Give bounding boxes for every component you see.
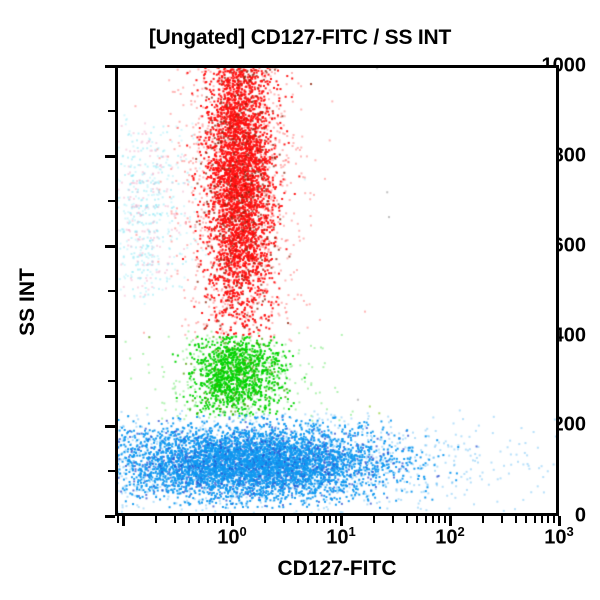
y-tick-600 — [105, 245, 115, 248]
y-axis-title: SS INT — [16, 212, 40, 392]
x-tick-5 — [307, 516, 309, 523]
x-tick-0.30000000000000004 — [174, 516, 176, 523]
y-tick-400 — [105, 335, 115, 338]
y-tick-0 — [105, 515, 115, 518]
x-tick-0.9 — [226, 516, 228, 523]
x-tick-0.09 — [117, 516, 119, 523]
x-tick-50 — [416, 516, 418, 523]
x-tick-6 — [316, 516, 318, 523]
y-tick-800 — [105, 155, 115, 158]
x-tick-0.6000000000000001 — [207, 516, 209, 523]
flow-cytometry-plot: [Ungated] CD127-FITC / SS INT 0 200 400 … — [0, 0, 600, 600]
x-tick-8 — [329, 516, 331, 523]
x-tick-9 — [335, 516, 337, 523]
x-tick-200 — [482, 516, 484, 523]
x-tick-400 — [515, 516, 517, 523]
x-axis-title: CD127-FITC — [115, 557, 559, 581]
y-tick-900 — [108, 110, 115, 112]
x-tick-80 — [438, 516, 440, 523]
x-tick-label-100: 102 — [435, 524, 464, 550]
x-tick-0.8 — [220, 516, 222, 523]
y-tick-100 — [108, 470, 115, 472]
x-tick-7 — [323, 516, 325, 523]
y-tick-700 — [108, 200, 115, 202]
x-tick-700 — [541, 516, 543, 523]
x-tick-0.7000000000000001 — [214, 516, 216, 523]
page-title: [Ungated] CD127-FITC / SS INT — [0, 26, 600, 50]
y-tick-300 — [108, 380, 115, 382]
x-tick-500 — [525, 516, 527, 523]
x-tick-90 — [444, 516, 446, 523]
x-tick-0.4 — [188, 516, 190, 523]
x-tick-label-1000: 103 — [544, 524, 573, 550]
x-tick-label-10: 101 — [326, 524, 355, 550]
x-tick-0.5 — [198, 516, 200, 523]
scatter-canvas — [118, 68, 556, 513]
x-tick-0.2 — [155, 516, 157, 523]
x-tick-2 — [264, 516, 266, 523]
x-tick-300 — [501, 516, 503, 523]
x-tick-4 — [297, 516, 299, 523]
x-tick-0.1 — [122, 516, 125, 526]
x-tick-3 — [283, 516, 285, 523]
y-tick-200 — [105, 425, 115, 428]
x-tick-30 — [392, 516, 394, 523]
x-tick-70 — [432, 516, 434, 523]
x-tick-600 — [534, 516, 536, 523]
x-tick-20 — [373, 516, 375, 523]
x-tick-900 — [553, 516, 555, 523]
plot-area — [115, 65, 559, 516]
x-tick-60 — [425, 516, 427, 523]
x-tick-40 — [406, 516, 408, 523]
x-tick-800 — [547, 516, 549, 523]
y-tick-1000 — [105, 65, 115, 68]
x-tick-label-1: 100 — [217, 524, 246, 550]
y-tick-500 — [108, 290, 115, 292]
